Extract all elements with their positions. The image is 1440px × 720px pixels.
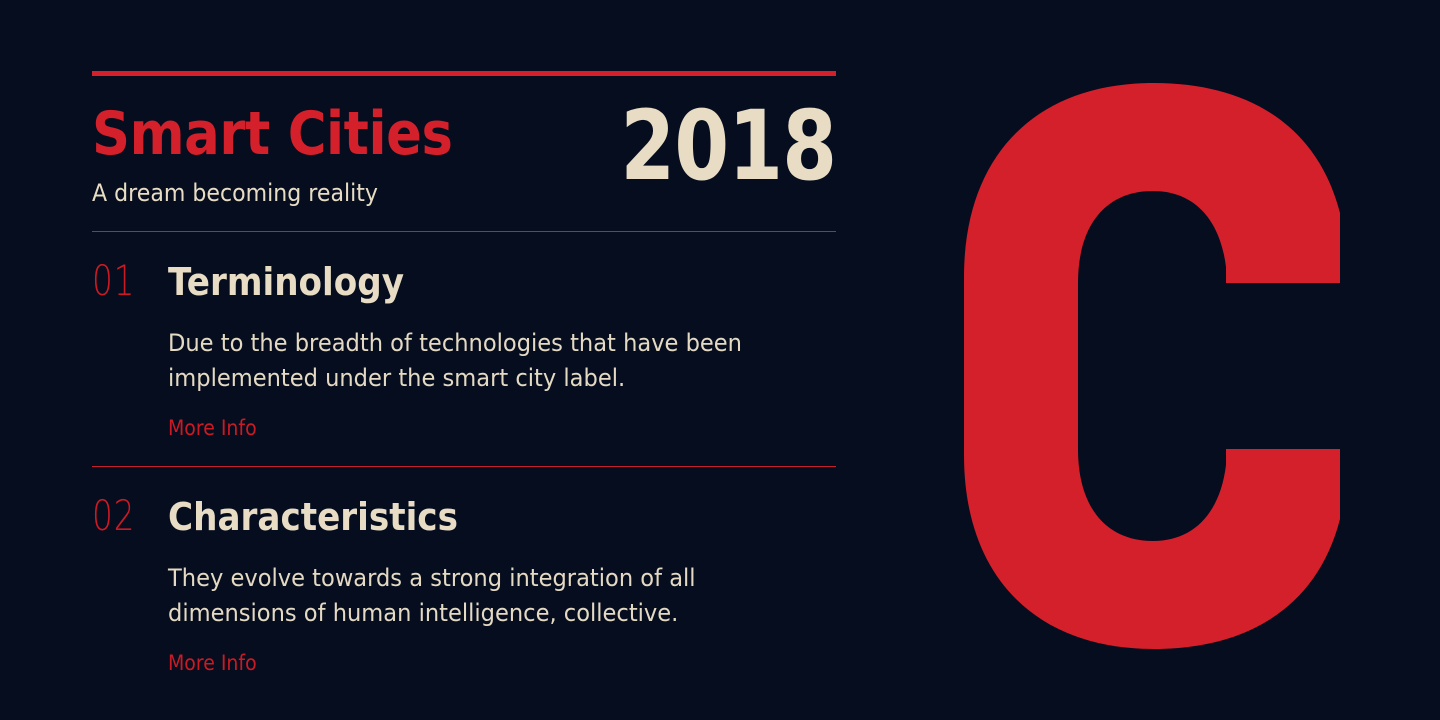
agenda-item-01-number: 01 — [92, 260, 151, 302]
year-label: 2018 — [620, 98, 836, 194]
decorative-letter-c — [958, 83, 1348, 649]
agenda-item-02-body: They evolve towards a strong integration… — [168, 561, 770, 631]
agenda-item-02-title: Characteristics — [168, 498, 458, 536]
page-subtitle: A dream becoming reality — [92, 180, 469, 206]
agenda-item-02-more-info-link[interactable]: More Info — [168, 653, 257, 674]
agenda-item-01-body: Due to the breadth of technologies that … — [168, 326, 770, 396]
slide-root: Smart Cities A dream becoming reality 20… — [0, 0, 1440, 720]
agenda-item-01-title: Terminology — [168, 263, 404, 301]
agenda-item-01-head: 01 Terminology — [92, 260, 836, 302]
agenda-item-01: 01 Terminology Due to the breadth of tec… — [92, 232, 836, 466]
letter-c-glyph — [964, 83, 1340, 649]
content-column: Smart Cities A dream becoming reality 20… — [92, 71, 836, 701]
agenda-item-02: 02 Characteristics They evolve towards a… — [92, 467, 836, 701]
header-text-group: Smart Cities A dream becoming reality — [92, 102, 502, 206]
agenda-item-01-more-info-link[interactable]: More Info — [168, 418, 257, 439]
page-title: Smart Cities — [92, 106, 452, 163]
agenda-item-02-number: 02 — [92, 495, 151, 537]
header: Smart Cities A dream becoming reality 20… — [92, 76, 836, 231]
agenda-item-02-head: 02 Characteristics — [92, 495, 836, 537]
